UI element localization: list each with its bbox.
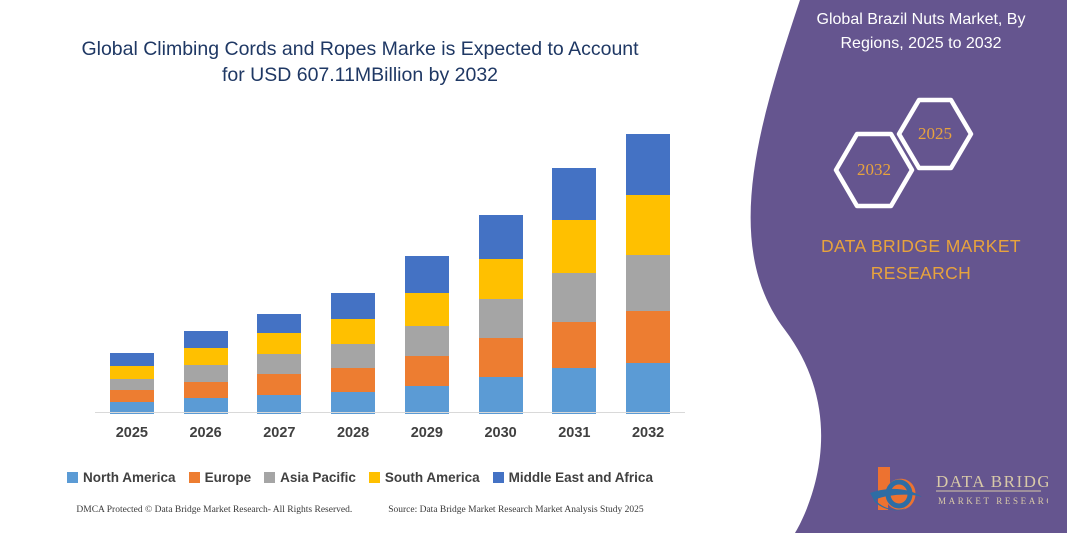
bar-segment bbox=[405, 256, 449, 294]
data-bridge-logo: DATA BRIDGE MARKET RESEARCH bbox=[868, 463, 1048, 515]
bar-segment bbox=[552, 220, 596, 273]
legend-swatch-icon bbox=[264, 472, 275, 483]
legend-item[interactable]: Middle East and Africa bbox=[493, 470, 653, 485]
legend-item[interactable]: South America bbox=[369, 470, 480, 485]
bar-segment bbox=[257, 314, 301, 333]
bar-segment bbox=[257, 374, 301, 394]
footer-source: Source: Data Bridge Market Research Mark… bbox=[388, 505, 643, 515]
bar-segment bbox=[479, 215, 523, 259]
bar-segment bbox=[552, 273, 596, 322]
bar-segment bbox=[184, 365, 228, 381]
bar-segment bbox=[552, 168, 596, 221]
bar-segment bbox=[110, 353, 154, 366]
hexagon-badge-2032-label: 2032 bbox=[832, 160, 916, 180]
bar-segment bbox=[331, 293, 375, 318]
x-axis-label-2027: 2027 bbox=[244, 425, 314, 441]
bar-segment bbox=[405, 326, 449, 356]
bar-stack-2029 bbox=[405, 256, 449, 414]
bar-segment bbox=[479, 299, 523, 338]
bar-segment bbox=[257, 354, 301, 374]
legend-swatch-icon bbox=[493, 472, 504, 483]
legend-swatch-icon bbox=[369, 472, 380, 483]
legend-swatch-icon bbox=[189, 472, 200, 483]
stacked-bar-plot-area bbox=[95, 120, 685, 414]
x-axis-label-2028: 2028 bbox=[318, 425, 388, 441]
logo-text-bottom: MARKET RESEARCH bbox=[938, 496, 1048, 506]
chart-footer: DMCA Protected © Data Bridge Market Rese… bbox=[0, 505, 720, 515]
bar-stack-2030 bbox=[479, 215, 523, 414]
logo-mark-icon: DATA BRIDGE MARKET RESEARCH bbox=[868, 463, 1048, 515]
bar-segment bbox=[626, 311, 670, 364]
bar-segment bbox=[479, 259, 523, 300]
bar-stack-2028 bbox=[331, 293, 375, 414]
bar-segment bbox=[626, 363, 670, 414]
chart-panel: Global Climbing Cords and Ropes Marke is… bbox=[0, 0, 720, 533]
brand-panel-header: Global Brazil Nuts Market, By Regions, 2… bbox=[790, 8, 1052, 56]
bar-segment bbox=[626, 255, 670, 311]
bar-segment bbox=[110, 390, 154, 402]
chart-title-line-2: for USD 607.11MBillion by 2032 bbox=[60, 62, 660, 88]
bar-segment bbox=[479, 338, 523, 377]
legend-label: Asia Pacific bbox=[280, 470, 356, 485]
chart-title-line-1: Global Climbing Cords and Ropes Marke is… bbox=[60, 36, 660, 62]
brand-header-line-2: Regions, 2025 to 2032 bbox=[790, 32, 1052, 56]
bar-stack-2031 bbox=[552, 168, 596, 414]
bar-segment bbox=[184, 382, 228, 398]
x-axis-label-2030: 2030 bbox=[466, 425, 536, 441]
logo-text-top: DATA BRIDGE bbox=[936, 472, 1048, 491]
bar-segment bbox=[405, 386, 449, 414]
bar-segment bbox=[184, 331, 228, 348]
footer-copyright: DMCA Protected © Data Bridge Market Rese… bbox=[76, 505, 352, 515]
x-axis-label-2026: 2026 bbox=[171, 425, 241, 441]
legend-swatch-icon bbox=[67, 472, 78, 483]
legend-item[interactable]: Europe bbox=[189, 470, 252, 485]
bar-segment bbox=[405, 293, 449, 325]
bar-segment bbox=[331, 392, 375, 414]
bar-segment bbox=[110, 379, 154, 390]
x-axis-label-2032: 2032 bbox=[613, 425, 683, 441]
legend-label: Europe bbox=[205, 470, 252, 485]
brand-name: DATA BRIDGE MARKET RESEARCH bbox=[790, 233, 1052, 287]
bar-segment bbox=[184, 348, 228, 365]
legend-label: Middle East and Africa bbox=[509, 470, 653, 485]
legend-label: North America bbox=[83, 470, 176, 485]
chart-legend: North AmericaEuropeAsia PacificSouth Ame… bbox=[0, 470, 720, 485]
bar-segment bbox=[626, 134, 670, 195]
chart-title: Global Climbing Cords and Ropes Marke is… bbox=[60, 36, 660, 88]
x-axis-label-2031: 2031 bbox=[539, 425, 609, 441]
bar-stack-2027 bbox=[257, 314, 301, 414]
legend-item[interactable]: North America bbox=[67, 470, 176, 485]
legend-label: South America bbox=[385, 470, 480, 485]
bar-segment bbox=[110, 366, 154, 378]
bar-segment bbox=[331, 368, 375, 391]
bar-segment bbox=[331, 344, 375, 368]
bar-stack-2026 bbox=[184, 331, 228, 414]
bar-segment bbox=[552, 322, 596, 369]
bar-segment bbox=[331, 319, 375, 344]
brand-name-line-2: RESEARCH bbox=[790, 260, 1052, 287]
brand-header-line-1: Global Brazil Nuts Market, By bbox=[790, 8, 1052, 32]
legend-item[interactable]: Asia Pacific bbox=[264, 470, 356, 485]
x-axis-label-2025: 2025 bbox=[97, 425, 167, 441]
bar-segment bbox=[552, 368, 596, 414]
x-axis-label-2029: 2029 bbox=[392, 425, 462, 441]
bar-stack-2025 bbox=[110, 353, 154, 414]
bar-segment bbox=[257, 333, 301, 354]
bar-segment bbox=[479, 377, 523, 415]
bar-segment bbox=[626, 195, 670, 255]
brand-name-line-1: DATA BRIDGE MARKET bbox=[790, 233, 1052, 260]
x-axis-line bbox=[95, 412, 685, 413]
x-axis-labels: 20252026202720282029203020312032 bbox=[95, 418, 685, 444]
bar-segment bbox=[405, 356, 449, 385]
bar-stack-2032 bbox=[626, 134, 670, 414]
